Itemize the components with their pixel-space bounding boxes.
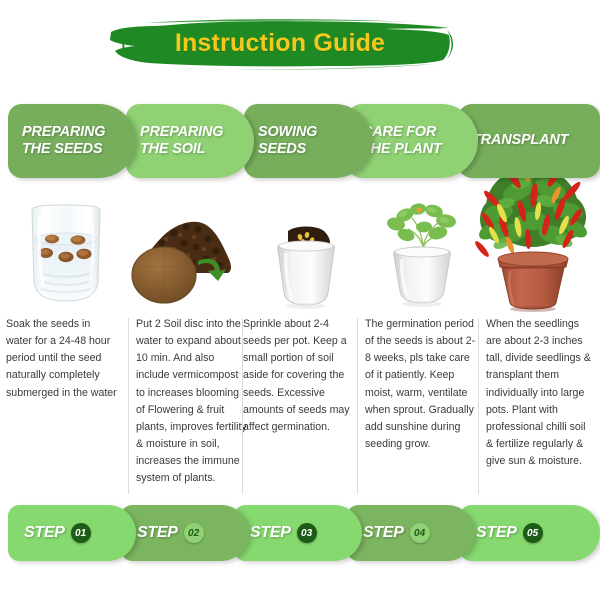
step-number-badge: 03 [297, 523, 317, 543]
step-number-badge: 05 [523, 523, 543, 543]
column-paragraph: When the seedlings are about 2-3 inches … [486, 316, 594, 470]
column-text-5: When the seedlings are about 2-3 inches … [486, 316, 594, 470]
step-04[interactable]: STEP 04 [347, 505, 475, 561]
column-text-4: The germination period of the seeds is a… [365, 316, 477, 453]
stage-tabs: PREPARING THE SEEDS PREPARING THE SOIL S… [8, 104, 600, 180]
step-01[interactable]: STEP 01 [8, 505, 136, 561]
description-columns: Soak the seeds in water for a 24-48 hour… [0, 316, 600, 496]
step-number-badge: 02 [184, 523, 204, 543]
column-divider [478, 318, 479, 494]
step-number-badge: 01 [71, 523, 91, 543]
column-text-3: Sprinkle about 2-4 seeds per pot. Keep a… [243, 316, 355, 436]
tab-label: PREPARING THE SEEDS [8, 124, 105, 158]
tab-sowing-seeds[interactable]: SOWING SEEDS [244, 104, 372, 178]
tab-preparing-the-seeds[interactable]: PREPARING THE SEEDS [8, 104, 136, 178]
tab-label: SOWING SEEDS [244, 124, 317, 158]
page-title: Instruction Guide [105, 14, 455, 72]
photo-row [0, 155, 600, 315]
white-pot-with-seeds-in-soil [258, 209, 354, 309]
step-label: STEP [476, 524, 517, 542]
column-paragraph: The germination period of the seeds is a… [365, 316, 477, 453]
step-02[interactable]: STEP 02 [121, 505, 249, 561]
step-03[interactable]: STEP 03 [234, 505, 362, 561]
column-divider [128, 318, 129, 494]
tab-transplant[interactable]: TRANSPLANT [458, 104, 600, 178]
column-divider [242, 318, 243, 494]
step-05[interactable]: STEP 05 [460, 505, 600, 561]
glass-of-water-with-seeds [14, 195, 118, 310]
step-label: STEP [137, 524, 178, 542]
step-label: STEP [250, 524, 291, 542]
column-paragraph: Soak the seeds in water for a 24-48 hour… [6, 316, 119, 402]
step-progress-bar: STEP 01 STEP 02 STEP 03 STEP 04 STEP [8, 505, 600, 561]
column-text-2: Put 2 Soil disc into the water to expand… [136, 316, 248, 488]
step-number-badge: 04 [410, 523, 430, 543]
column-paragraph: Sprinkle about 2-4 seeds per pot. Keep a… [243, 316, 355, 436]
step-label: STEP [363, 524, 404, 542]
tab-preparing-the-soil[interactable]: PREPARING THE SOIL [126, 104, 254, 178]
title-banner: Instruction Guide [0, 14, 600, 76]
tab-label: PREPARING THE SOIL [126, 124, 223, 158]
white-pot-with-seedling [372, 191, 474, 309]
soil-mound-with-coir-disc [128, 199, 236, 309]
step-label: STEP [24, 524, 65, 542]
column-text-1: Soak the seeds in water for a 24-48 hour… [6, 316, 119, 402]
column-paragraph: Put 2 Soil disc into the water to expand… [136, 316, 248, 488]
column-divider [357, 318, 358, 494]
instruction-guide-infographic: Instruction Guide PREPARING THE SEEDS PR… [0, 0, 600, 600]
chilli-plant-in-terracotta-pot [468, 155, 598, 313]
